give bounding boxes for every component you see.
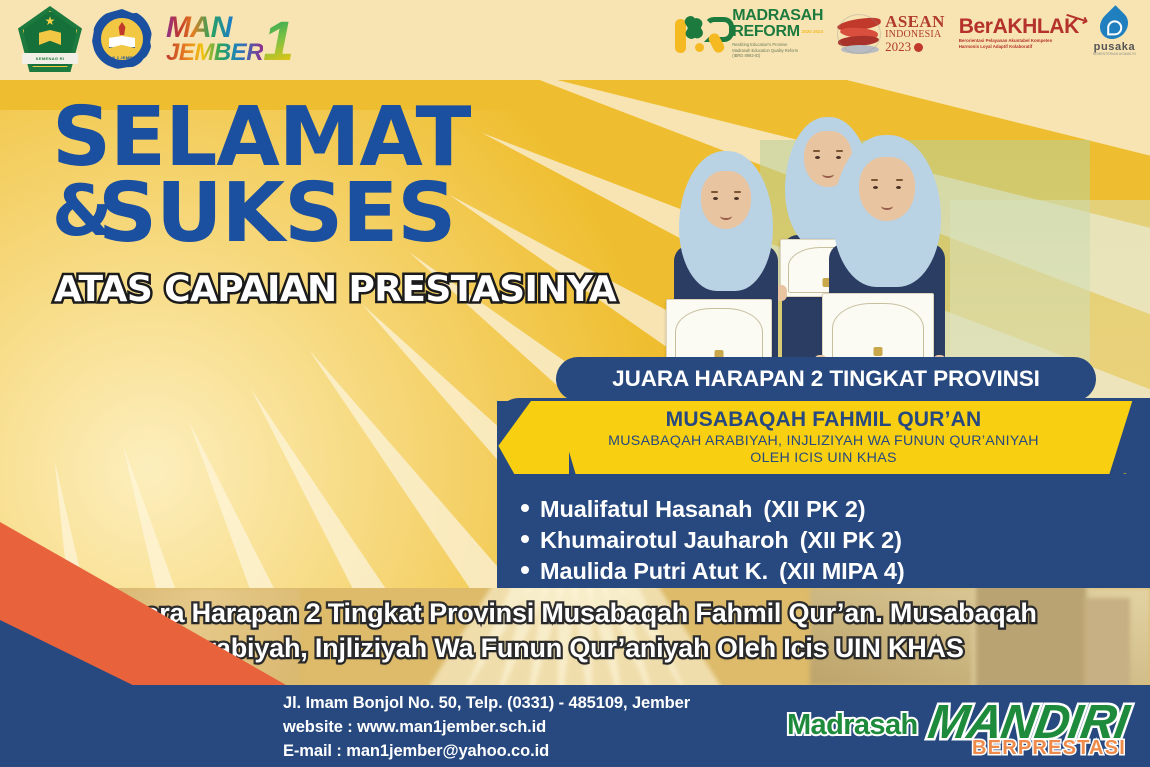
footer-email[interactable]: E-mail : man1jember@yahoo.co.id bbox=[283, 739, 690, 763]
brand-berprestasi: BERPRESTASI bbox=[972, 737, 1126, 760]
mr-subtext: Realizing Education's Promise Madrasah E… bbox=[732, 42, 823, 59]
bullet-icon bbox=[521, 504, 529, 512]
winner-class: (XII MIPA 4) bbox=[779, 556, 904, 587]
asean-dot-icon bbox=[914, 43, 923, 52]
kemenag-logo-caption: KEMENAG RI bbox=[22, 53, 78, 64]
man1jember-seal: MAN 1 JEMBER bbox=[92, 9, 152, 69]
headline-ampersand: & bbox=[52, 179, 112, 243]
winner-name: Maulida Putri Atut K. bbox=[540, 556, 768, 587]
mr-line-1: MADRASAH bbox=[732, 8, 823, 24]
berakhlak-subtext: Berorientasi Pelayanan Akuntabel Kompete… bbox=[959, 38, 1079, 50]
mr-monogram-icon bbox=[675, 13, 727, 53]
winner-name: Khumairotul Jauharoh bbox=[540, 525, 789, 556]
asean-year: 2023 bbox=[885, 40, 911, 53]
list-item: Maulida Putri Atut K. (XII MIPA 4) bbox=[521, 556, 1121, 587]
wordmark-man: MAN bbox=[166, 15, 263, 41]
winner-class: (XII PK 2) bbox=[763, 494, 865, 525]
winner-name: Mualifatul Hasanah bbox=[540, 494, 752, 525]
brand-madrasah: Madrasah bbox=[787, 709, 918, 742]
school-contact-info: Jl. Imam Bonjol No. 50, Telp. (0331) - 4… bbox=[283, 691, 690, 763]
caption-line-2: Arabiyah, Injliziyah Wa Funun Qur’aniyah… bbox=[0, 631, 1150, 666]
madrasah-mandiri-berprestasi-logo: Madrasah MANDIRI BERPRESTASI bbox=[787, 693, 1132, 759]
footer-address: Jl. Imam Bonjol No. 50, Telp. (0331) - 4… bbox=[283, 691, 690, 715]
competition-detail-1: MUSABAQAH ARABIYAH, INJLIZIYAH WA FUNUN … bbox=[497, 433, 1150, 450]
award-pill: JUARA HARAPAN 2 TINGKAT PROVINSI bbox=[556, 357, 1096, 401]
kemenag-logo: ★ KEMENAG RI bbox=[18, 6, 82, 72]
asean-indonesia-2023-logo: ASEAN INDONESIA 2023 bbox=[837, 12, 945, 54]
competition-detail-2: OLEH ICIS UIN KHAS bbox=[497, 450, 1150, 467]
list-item: Mualifatul Hasanah (XII PK 2) bbox=[521, 494, 1121, 525]
competition-title: MUSABAQAH FAHMIL QUR’AN bbox=[497, 407, 1150, 433]
madrasah-reform-logo: MADRASAH REFORM 2020 2024 Realizing Educ… bbox=[675, 8, 823, 59]
congratulations-poster: SELAMAT & SUKSES ATAS CAPAIAN PRESTASINY… bbox=[0, 0, 1150, 767]
list-item: Khumairotul Jauharoh (XII PK 2) bbox=[521, 525, 1121, 556]
bullet-icon bbox=[521, 535, 529, 543]
man1jember-wordmark: MAN JEMBER 1 bbox=[166, 15, 294, 63]
bullet-icon bbox=[521, 566, 529, 574]
caption-band: Juara Harapan 2 Tingkat Provinsi Musabaq… bbox=[0, 588, 1150, 685]
headline-sukses: SUKSES bbox=[98, 175, 616, 253]
berakhlak-logo: BerAKHLAK ⟶ Berorientasi Pelayanan Akunt… bbox=[959, 16, 1079, 50]
headline-subtitle: ATAS CAPAIAN PRESTASINYA bbox=[54, 269, 616, 310]
pusaka-logo: pusaka KEMENTERIAN AGAMA RI bbox=[1093, 10, 1136, 56]
wordmark-jember: JEMBER bbox=[166, 42, 263, 63]
footer-website[interactable]: website : www.man1jember.sch.id bbox=[283, 715, 690, 739]
logo-header-band: ★ KEMENAG RI MAN 1 JEMBER MAN JEMBER 1 bbox=[0, 0, 1150, 80]
mr-line-2: REFORM bbox=[732, 24, 800, 40]
berakhlak-title: BerAKHLAK bbox=[959, 15, 1079, 38]
winners-photo bbox=[660, 85, 990, 385]
footer-bar: Jl. Imam Bonjol No. 50, Telp. (0331) - 4… bbox=[0, 685, 1150, 767]
winner-class: (XII PK 2) bbox=[800, 525, 902, 556]
headline-selamat: SELAMAT bbox=[52, 100, 616, 175]
wordmark-numeral: 1 bbox=[263, 19, 294, 63]
seal-caption: MAN 1 JEMBER bbox=[92, 55, 152, 60]
pusaka-droplet-icon bbox=[1095, 5, 1135, 45]
asean-line-1: ASEAN bbox=[885, 13, 945, 30]
pusaka-subtext: KEMENTERIAN AGAMA RI bbox=[1093, 53, 1136, 56]
caption-line-1: Juara Harapan 2 Tingkat Provinsi Musabaq… bbox=[0, 596, 1150, 631]
competition-ribbon: MUSABAQAH FAHMIL QUR’AN MUSABAQAH ARABIY… bbox=[497, 401, 1150, 474]
headline-block: SELAMAT & SUKSES ATAS CAPAIAN PRESTASINY… bbox=[52, 100, 616, 310]
asean-swoosh-icon bbox=[837, 12, 881, 54]
mr-years: 2020 2024 bbox=[802, 29, 823, 34]
winners-list: Mualifatul Hasanah (XII PK 2) Khumairotu… bbox=[521, 494, 1121, 587]
